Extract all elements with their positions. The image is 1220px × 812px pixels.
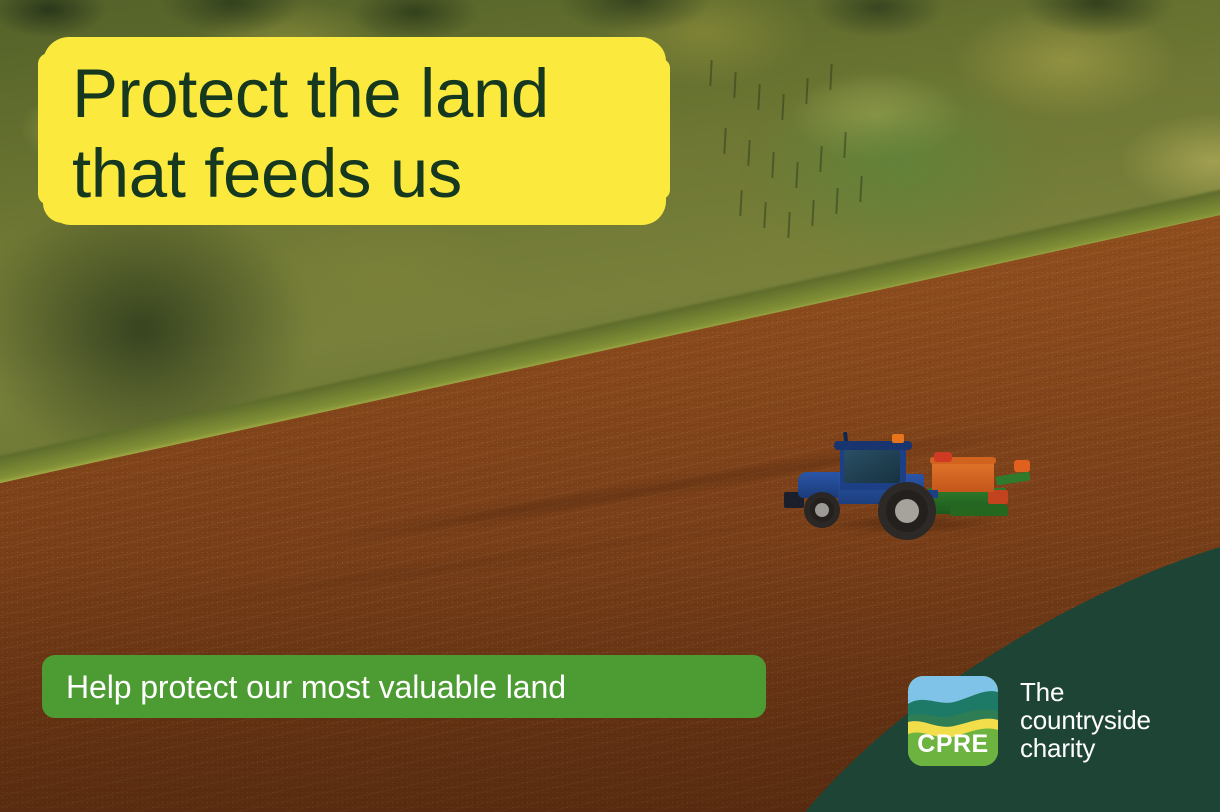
cpre-brand-lockup[interactable]: CPRE The countryside charity — [908, 676, 1151, 766]
warning-beacon — [892, 434, 904, 443]
drill-marker-disc — [1014, 460, 1030, 472]
seed-hopper — [932, 462, 994, 492]
cpre-logo-wordmark: CPRE — [908, 732, 998, 757]
rear-wheel-hub — [895, 499, 919, 523]
campaign-banner: Protect the land that feeds us Help prot… — [0, 0, 1220, 812]
drill-marker-arm — [996, 471, 1031, 485]
cpre-logo-icon[interactable]: CPRE — [908, 676, 998, 766]
seed-hopper-cap — [934, 452, 952, 462]
seed-drill-coulters — [950, 506, 1008, 516]
headline-text: Protect the land that feeds us — [72, 54, 652, 214]
subbanner-text: Help protect our most valuable land — [66, 666, 756, 708]
brand-tagline: The countryside charity — [1020, 678, 1151, 764]
cab-glass — [844, 450, 900, 483]
tractor-with-seed-drill — [782, 430, 1044, 542]
seed-drill-tank — [988, 490, 1008, 504]
front-wheel-hub — [815, 503, 829, 517]
